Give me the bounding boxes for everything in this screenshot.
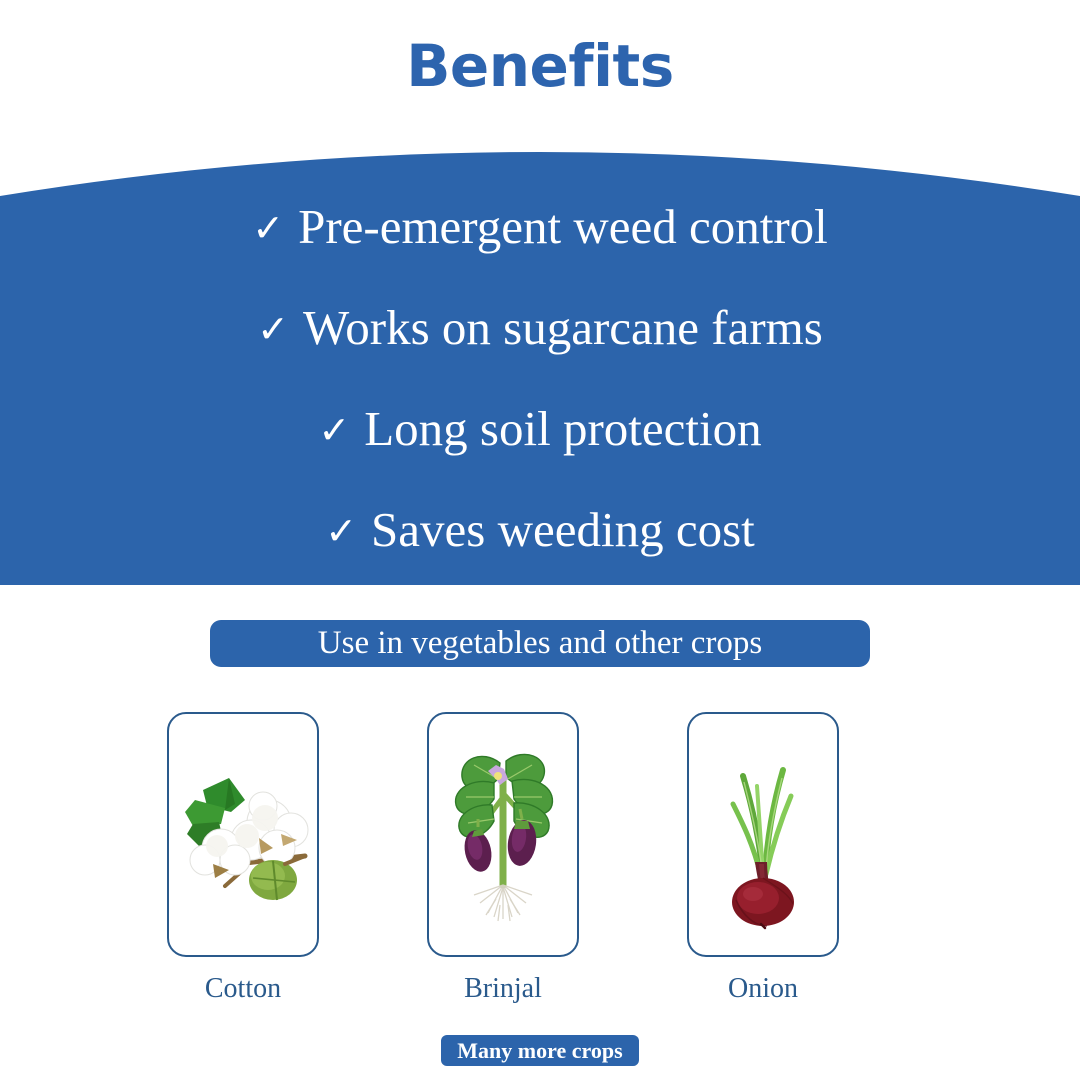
check-icon: ✓ <box>252 206 284 250</box>
crop-card-list <box>0 712 1080 958</box>
benefit-item: ✓Long soil protection <box>0 404 1080 453</box>
benefit-item: ✓Works on sugarcane farms <box>0 303 1080 352</box>
page-title: Benefits <box>0 36 1080 97</box>
crop-label-cotton: Cotton <box>143 972 343 1006</box>
crop-card-onion[interactable] <box>687 712 839 957</box>
check-icon: ✓ <box>257 307 289 351</box>
check-icon: ✓ <box>325 509 357 553</box>
check-icon: ✓ <box>318 408 350 452</box>
crop-card-cotton[interactable] <box>167 712 319 957</box>
benefit-label: Works on sugarcane farms <box>303 300 823 355</box>
footer-pill-many-more-crops: Many more crops <box>441 1035 639 1066</box>
crop-label-brinjal: Brinjal <box>403 972 603 1006</box>
benefit-item: ✓Saves weeding cost <box>0 505 1080 554</box>
onion-bulb-image <box>703 740 823 930</box>
benefit-label: Saves weeding cost <box>371 502 755 557</box>
benefit-label: Pre-emergent weed control <box>298 199 828 254</box>
benefits-infographic: Benefits ✓Pre-emergent weed control ✓Wor… <box>0 0 1080 1080</box>
crop-label-list: Cotton Brinjal Onion <box>0 972 1080 1012</box>
crop-card-brinjal[interactable] <box>427 712 579 957</box>
benefits-list: ✓Pre-emergent weed control ✓Works on sug… <box>0 196 1080 576</box>
benefit-label: Long soil protection <box>364 401 761 456</box>
benefit-item: ✓Pre-emergent weed control <box>0 202 1080 251</box>
section-pill-use-in-vegetables: Use in vegetables and other crops <box>210 620 870 667</box>
crop-label-onion: Onion <box>663 972 863 1006</box>
cotton-bolls-image <box>173 760 313 910</box>
brinjal-plant-image <box>438 735 568 935</box>
